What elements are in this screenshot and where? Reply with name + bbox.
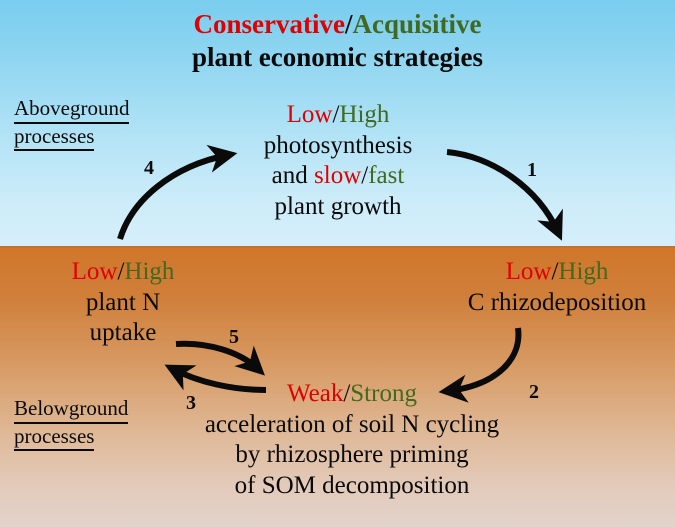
node-c-rhizodeposition: Low/High C rhizodeposition (443, 257, 671, 318)
arrow-label-3: 3 (186, 392, 196, 415)
figure-title: Conservative/Acquisitive plant economic … (0, 8, 675, 75)
photosynthesis-line2: photosynthesis (264, 132, 413, 159)
title-subtitle: plant economic strategies (192, 42, 483, 72)
photosynthesis-fast: fast (368, 162, 404, 189)
photosynthesis-high: High (339, 101, 389, 128)
rhizo-high: High (558, 258, 608, 285)
plant-n-high: High (124, 258, 174, 285)
photosynthesis-line4: plant growth (274, 193, 401, 220)
belowground-label-line1: Belowground (14, 396, 128, 424)
node-photosynthesis: Low/High photosynthesis and slow/fast pl… (238, 100, 438, 222)
aboveground-processes-label: Aboveground processes (14, 96, 164, 151)
cycling-weak: Weak (287, 380, 343, 407)
cycling-line4: of SOM decomposition (235, 472, 470, 499)
photosynthesis-low: Low (287, 101, 333, 128)
node-soil-n-cycling: Weak/Strong acceleration of soil N cycli… (152, 379, 552, 501)
arrow-label-1: 1 (527, 159, 537, 182)
title-conservative: Conservative (194, 9, 345, 39)
plant-n-low: Low (72, 258, 118, 285)
plant-n-line3: uptake (90, 319, 157, 346)
rhizo-low: Low (506, 258, 552, 285)
plant-economic-strategies-diagram: Conservative/Acquisitive plant economic … (0, 0, 675, 527)
cycling-line3: by rhizosphere priming (235, 441, 468, 468)
arrow-label-2: 2 (529, 381, 539, 404)
plant-n-line2: plant N (86, 289, 160, 316)
soil-surface-line (0, 246, 675, 248)
arrow-label-4: 4 (144, 157, 154, 180)
cycling-line2: acceleration of soil N cycling (205, 411, 499, 438)
photosynthesis-slow: slow (314, 162, 361, 189)
photosynthesis-and: and (272, 162, 314, 189)
aboveground-label-line1: Aboveground (14, 96, 129, 124)
rhizo-line2: C rhizodeposition (468, 289, 646, 316)
belowground-processes-label: Belowground processes (14, 396, 164, 451)
node-plant-n-uptake: Low/High plant N uptake (35, 257, 211, 349)
cycling-strong: Strong (350, 380, 417, 407)
belowground-label-line2: processes (14, 424, 94, 452)
aboveground-label-line2: processes (14, 124, 94, 152)
title-acquisitive: Acquisitive (352, 9, 481, 39)
arrow-label-5: 5 (229, 326, 239, 349)
